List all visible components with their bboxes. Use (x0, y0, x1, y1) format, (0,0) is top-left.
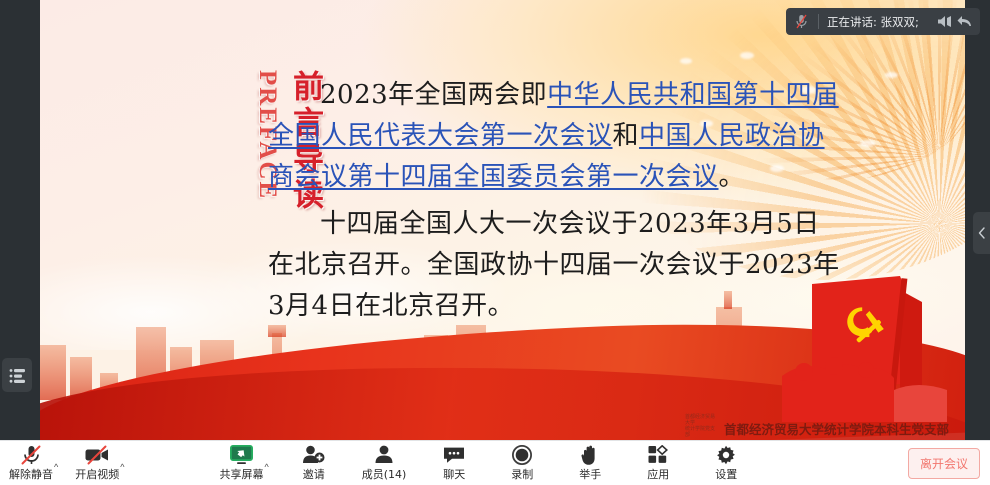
collapse-panel-button[interactable] (973, 212, 990, 254)
slide-text-run: 和 (613, 121, 640, 151)
volume-icon[interactable] (937, 15, 952, 28)
leave-meeting-button[interactable]: 离开会议 (908, 448, 980, 479)
slide-text-run: 十四届全国人大一次会议于2023年3月5日在北京召开。全国政协十四届一次会议于2… (268, 209, 840, 321)
raise-hand-button[interactable]: 举手 (567, 441, 613, 485)
start-video-button[interactable]: 开启视频 (72, 441, 122, 485)
share-screen-group: 共享屏幕 ^ (216, 441, 268, 485)
toolbar-left-group: 解除静音 ^ 开启视频 ^ (0, 441, 124, 485)
unmute-button[interactable]: 解除静音 (6, 441, 56, 485)
share-screen-button[interactable]: 共享屏幕 (216, 441, 266, 485)
slide-text-run: 。 (719, 162, 746, 192)
apps-button[interactable]: 应用 (635, 441, 681, 485)
zoom-meeting-window: 前言导读 PREFACE 2023年全国两会即中华人民共和国第十四届全国人民代表… (0, 0, 990, 485)
video-off-icon (84, 444, 110, 465)
record-icon (512, 444, 532, 465)
bokeh-dot (740, 52, 754, 59)
party-flag-emblem (782, 272, 947, 422)
share-screen-icon (230, 444, 253, 465)
share-screen-label: 共享屏幕 (219, 466, 263, 482)
slide-footer-watermark: 首都经济贸易大学统计学院党支部 首都经济贸易大学统计学院本科生党支部 (685, 414, 949, 438)
invite-button[interactable]: 邀请 (291, 441, 337, 485)
list-view-button[interactable] (2, 358, 32, 392)
active-speaker-banner: 正在讲话: 张双双; (786, 8, 980, 35)
shared-screen-stage: 前言导读 PREFACE 2023年全国两会即中华人民共和国第十四届全国人民代表… (0, 0, 990, 440)
invite-icon (302, 444, 325, 465)
settings-label: 设置 (715, 466, 737, 482)
mic-muted-icon (18, 444, 44, 465)
video-options-caret[interactable]: ^ (120, 462, 124, 472)
apps-label: 应用 (647, 466, 669, 482)
unmute-label: 解除静音 (9, 466, 53, 482)
presentation-slide: 前言导读 PREFACE 2023年全国两会即中华人民共和国第十四届全国人民代表… (40, 0, 965, 440)
mic-muted-icon-wrap (18, 444, 44, 465)
watermark-text: 首都经济贸易大学统计学院本科生党支部 (724, 419, 949, 438)
chevron-left-icon (978, 227, 986, 239)
start-video-label: 开启视频 (75, 466, 119, 482)
invite-label: 邀请 (303, 466, 325, 482)
slide-body-text: 2023年全国两会即中华人民共和国第十四届全国人民代表大会第一次会议和中国人民政… (268, 75, 843, 327)
chat-button[interactable]: 聊天 (431, 441, 477, 485)
banner-divider (818, 14, 819, 29)
share-options-caret[interactable]: ^ (264, 462, 268, 472)
participants-label: 成员(14) (362, 466, 407, 482)
record-label: 录制 (511, 466, 533, 482)
bokeh-dot (680, 58, 692, 64)
audio-options-caret[interactable]: ^ (54, 462, 58, 472)
slide-text-run: 2023年全国两会即 (320, 80, 547, 110)
record-button[interactable]: 录制 (499, 441, 545, 485)
slide-paragraph: 2023年全国两会即中华人民共和国第十四届全国人民代表大会第一次会议和中国人民政… (268, 75, 843, 198)
reply-icon[interactable] (957, 15, 972, 28)
mic-muted-icon (793, 13, 810, 30)
chat-label: 聊天 (443, 466, 465, 482)
list-view-icon (9, 368, 26, 383)
apps-icon (648, 444, 668, 465)
settings-gear-icon (716, 444, 736, 465)
bokeh-dot (860, 140, 875, 147)
toolbar-right-group: 离开会议 (908, 448, 990, 479)
slide-paragraph: 十四届全国人大一次会议于2023年3月5日在北京召开。全国政协十四届一次会议于2… (268, 204, 843, 327)
toolbar-center-group: 共享屏幕 ^ 邀请 (216, 441, 749, 485)
banner-actions (937, 15, 972, 28)
video-off-icon-wrap (84, 444, 110, 465)
bokeh-dot (885, 72, 898, 78)
participants-icon (374, 444, 394, 465)
participants-button[interactable]: 成员(14) (359, 441, 410, 485)
active-speaker-label: 正在讲话: 张双双; (827, 14, 919, 30)
raise-hand-label: 举手 (579, 466, 601, 482)
meeting-toolbar: 解除静音 ^ 开启视频 ^ (0, 440, 990, 485)
settings-button[interactable]: 设置 (703, 441, 749, 485)
chat-icon (443, 444, 465, 465)
raise-hand-icon (581, 444, 600, 465)
watermark-logo: 首都经济贸易大学统计学院党支部 (685, 414, 719, 438)
